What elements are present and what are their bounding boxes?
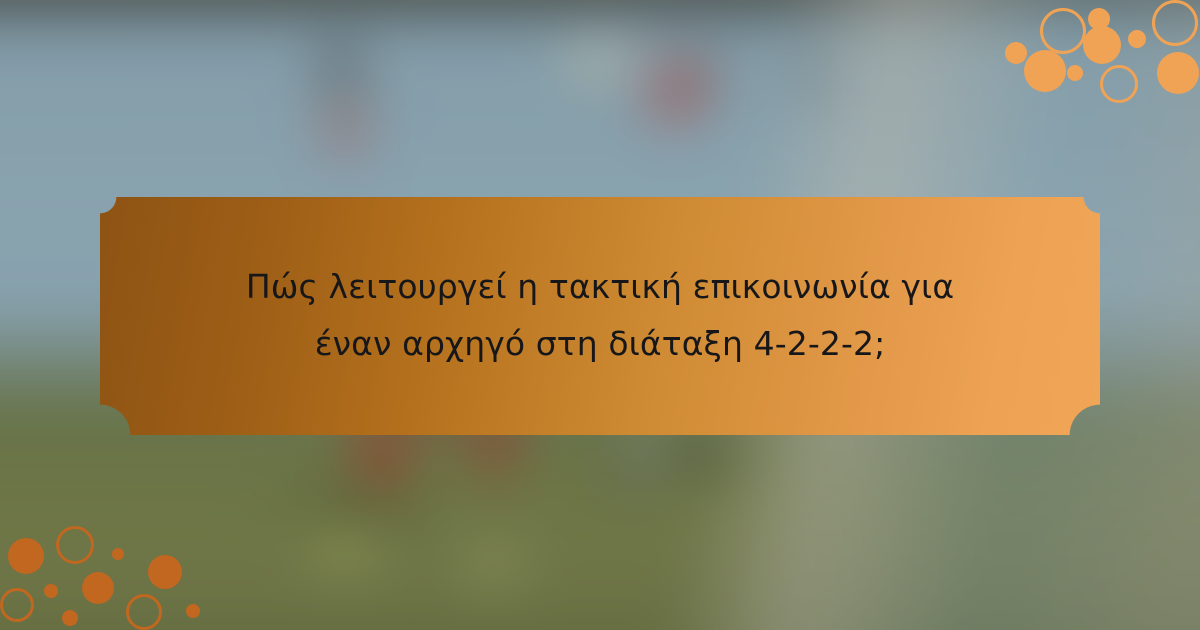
question-banner: Πώς λειτουργεί η τακτική επικοινωνία για… (100, 197, 1100, 435)
page-title: Πώς λειτουργεί η τακτική επικοινωνία για… (186, 259, 1014, 373)
share-card-canvas: Πώς λειτουργεί η τακτική επικοινωνία για… (0, 0, 1200, 630)
headline-line-1: Πώς λειτουργεί η τακτική επικοινωνία για (246, 267, 954, 306)
headline-line-2: έναν αρχηγό στη διάταξη 4-2-2-2; (246, 316, 954, 373)
